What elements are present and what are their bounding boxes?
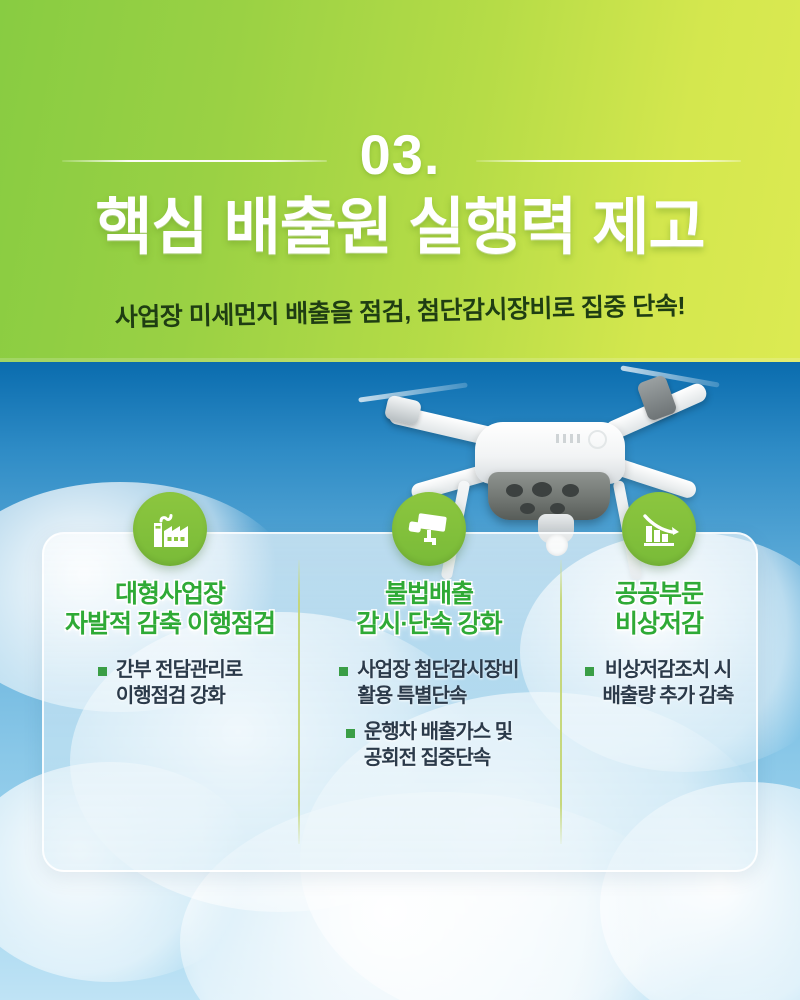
bullet-text: 비상저감조치 시 배출량 추가 감축 — [603, 657, 734, 710]
declining-chart-icon — [622, 492, 696, 566]
column-title: 대형사업장 자발적 감축 이행점검 — [42, 580, 298, 639]
bullet-square-icon — [346, 729, 355, 738]
bullet-square-icon — [585, 667, 594, 676]
page-title: 핵심 배출원 실행력 제고 — [0, 195, 800, 260]
drone-vent — [550, 503, 565, 514]
section-number: 03. — [0, 122, 800, 187]
list-item: 비상저감조치 시 배출량 추가 감축 — [574, 657, 744, 710]
list-item: 간부 전담관리로 이행점검 강화 — [56, 657, 284, 710]
page-subtitle: 사업장 미세먼지 배출을 점검, 첨단감시장비로 집중 단속! — [0, 284, 800, 337]
header-banner: 03. 핵심 배출원 실행력 제고 사업장 미세먼지 배출을 점검, 첨단감시장… — [0, 0, 800, 362]
bullet-list: 사업장 첨단감시장비 활용 특별단속 운행차 배출가스 및 공회전 집중단속 — [298, 657, 560, 772]
drone-vent — [562, 484, 579, 497]
list-item: 사업장 첨단감시장비 활용 특별단속 — [312, 657, 546, 710]
poster-root: 03. 핵심 배출원 실행력 제고 사업장 미세먼지 배출을 점검, 첨단감시장… — [0, 0, 800, 1000]
drone-vent — [506, 484, 523, 497]
drone-vent — [532, 482, 552, 497]
list-item: 운행차 배출가스 및 공회전 집중단속 — [312, 719, 546, 772]
drone-underside — [488, 472, 610, 520]
factory-icon — [133, 492, 207, 566]
columns-container: 대형사업장 자발적 감축 이행점검 간부 전담관리로 이행점검 강화 불법배 — [42, 532, 758, 872]
bullet-square-icon — [339, 667, 348, 676]
drone-indicator-lights — [556, 434, 582, 443]
column-title: 불법배출 감시·단속 강화 — [298, 580, 560, 639]
bullet-list: 비상저감조치 시 배출량 추가 감축 — [560, 657, 758, 710]
column-large-business: 대형사업장 자발적 감축 이행점검 간부 전담관리로 이행점검 강화 — [42, 532, 298, 872]
drone-led-ring — [588, 430, 607, 449]
bullet-text: 간부 전담관리로 이행점검 강화 — [116, 657, 242, 710]
cctv-camera-icon — [392, 492, 466, 566]
bullet-text: 운행차 배출가스 및 공회전 집중단속 — [364, 719, 512, 772]
drone-motor — [384, 394, 423, 425]
bullet-list: 간부 전담관리로 이행점검 강화 — [42, 657, 298, 710]
column-title: 공공부문 비상저감 — [560, 580, 758, 639]
column-illegal-emission: 불법배출 감시·단속 강화 사업장 첨단감시장비 활용 특별단속 운행차 배출가… — [298, 532, 560, 872]
drone-vent — [520, 503, 535, 514]
bullet-text: 사업장 첨단감시장비 활용 특별단속 — [357, 657, 518, 710]
bullet-square-icon — [98, 667, 107, 676]
column-public-sector: 공공부문 비상저감 비상저감조치 시 배출량 추가 감축 — [560, 532, 758, 872]
